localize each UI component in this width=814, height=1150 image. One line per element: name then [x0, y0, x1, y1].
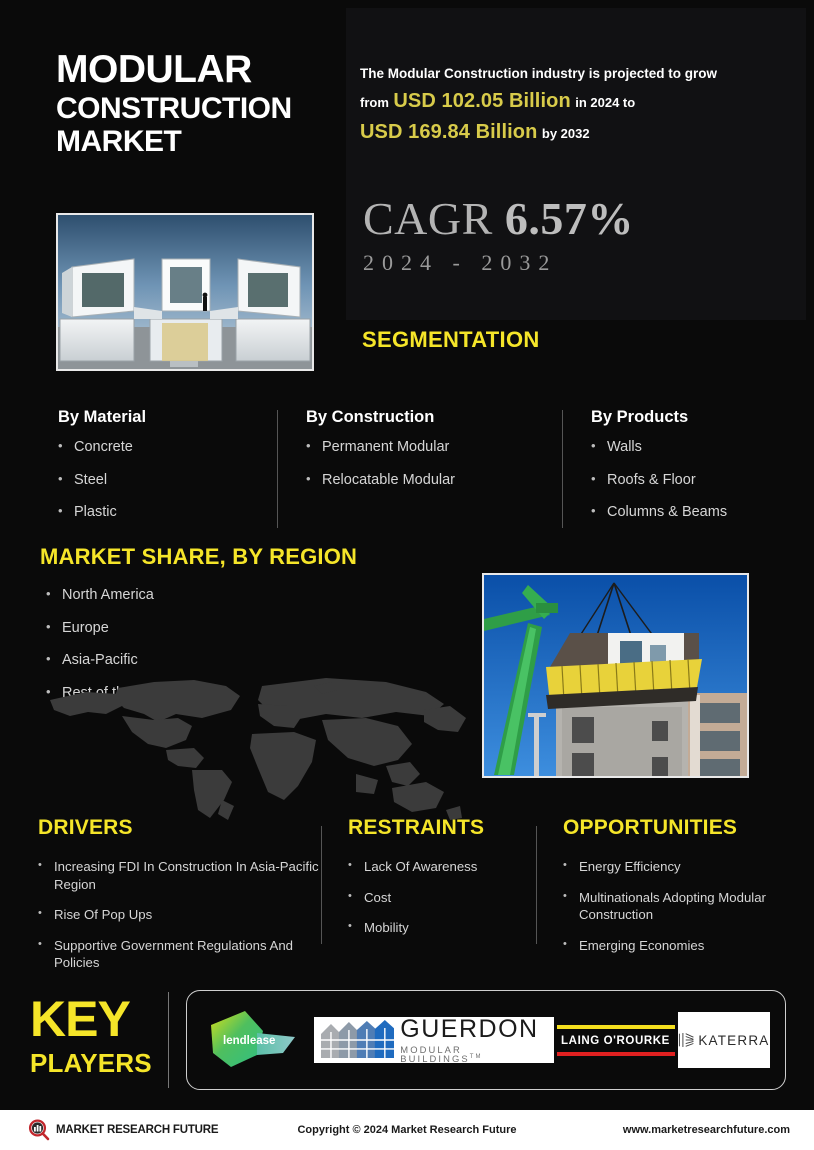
- modular-building-illustration: [58, 215, 312, 369]
- title-line-2: CONSTRUCTION: [56, 92, 346, 126]
- column-divider: [562, 410, 563, 528]
- logo-lendlease[interactable]: lendlease lendlease: [203, 1007, 311, 1073]
- segmentation-title: SEGMENTATION: [362, 327, 540, 353]
- footer-url[interactable]: www.marketresearchfuture.com: [623, 1124, 790, 1136]
- laing-red-bar: [557, 1052, 675, 1056]
- infographic-page: MODULAR CONSTRUCTION MARKET: [0, 0, 814, 1150]
- cagr-block: CAGR 6.57% 2024 - 2032: [363, 196, 634, 276]
- value-2032: USD 169.84 Billion: [360, 121, 537, 143]
- laing-orourke-label: LAING O'ROURKE: [557, 1029, 675, 1052]
- list-item: Increasing FDI In Construction In Asia-P…: [26, 858, 336, 893]
- list-item: Concrete: [46, 438, 282, 458]
- segmentation-row: By Material Concrete Steel Plastic By Co…: [46, 408, 776, 536]
- guerdon-houses-icon: [319, 1020, 395, 1060]
- list-item: Walls: [579, 438, 764, 458]
- segmentation-heading: By Construction: [294, 408, 567, 427]
- list-item: Steel: [46, 471, 282, 491]
- analysis-heading: OPPORTUNITIES: [551, 816, 796, 840]
- intro-from: from: [360, 95, 389, 110]
- segmentation-heading: By Products: [579, 408, 764, 427]
- list-item: Plastic: [46, 503, 282, 523]
- key-players-divider: [168, 992, 169, 1088]
- list-item: Roofs & Floor: [579, 471, 764, 491]
- intro-line-1: The Modular Construction industry is pro…: [360, 66, 717, 81]
- katerra-label: KATERRA: [698, 1033, 769, 1048]
- key-players-label: KEY PLAYERS: [30, 996, 160, 1079]
- cagr-label: CAGR: [363, 193, 493, 244]
- list-item: North America: [34, 586, 314, 606]
- katerra-mark-icon: [678, 1029, 695, 1051]
- modular-building-photo: [56, 213, 314, 371]
- value-2024: USD 102.05 Billion: [393, 90, 570, 112]
- key-players-logo-box: lendlease lendlease GUERDON MODULAR BUIL…: [186, 990, 786, 1090]
- analysis-column-drivers: DRIVERS Increasing FDI In Construction I…: [26, 816, 336, 985]
- world-map: [26, 670, 481, 835]
- column-divider: [536, 826, 537, 944]
- logo-guerdon[interactable]: GUERDON MODULAR BUILDINGSTM: [314, 1017, 554, 1063]
- list-item: Europe: [34, 619, 314, 639]
- logo-laing-orourke[interactable]: LAING O'ROURKE: [557, 1025, 675, 1056]
- svg-text:lendlease: lendlease: [223, 1035, 275, 1047]
- analysis-heading: DRIVERS: [26, 816, 336, 840]
- market-share-title: MARKET SHARE, BY REGION: [40, 544, 357, 570]
- analysis-heading: RESTRAINTS: [336, 816, 551, 840]
- analysis-row: DRIVERS Increasing FDI In Construction I…: [26, 816, 796, 985]
- cagr-line: CAGR 6.57%: [363, 196, 634, 242]
- column-divider: [277, 410, 278, 528]
- guerdon-tm: TM: [470, 1054, 483, 1060]
- segmentation-column-construction: By Construction Permanent Modular Reloca…: [294, 408, 579, 536]
- lendlease-logo-icon: lendlease: [203, 1007, 311, 1073]
- guerdon-sublabel: MODULAR BUILDINGS: [400, 1044, 469, 1065]
- column-divider: [321, 826, 322, 944]
- guerdon-label: GUERDON: [400, 1017, 548, 1042]
- cagr-years: 2024 - 2032: [363, 250, 634, 276]
- title-line-3: MARKET: [56, 125, 346, 159]
- list-item: Energy Efficiency: [551, 858, 796, 876]
- analysis-column-opportunities: OPPORTUNITIES Energy Efficiency Multinat…: [551, 816, 796, 985]
- list-item: Columns & Beams: [579, 503, 764, 523]
- list-item: Multinationals Adopting Modular Construc…: [551, 889, 796, 924]
- list-item: Emerging Economies: [551, 937, 796, 955]
- segmentation-list: Permanent Modular Relocatable Modular: [294, 438, 567, 490]
- footer: MARKET RESEARCH FUTURE Copyright © 2024 …: [0, 1110, 814, 1150]
- intro-end: by 2032: [542, 126, 590, 141]
- list-item: Mobility: [336, 919, 551, 937]
- analysis-column-restraints: RESTRAINTS Lack Of Awareness Cost Mobili…: [336, 816, 551, 985]
- segmentation-list: Concrete Steel Plastic: [46, 438, 282, 523]
- analysis-list: Increasing FDI In Construction In Asia-P…: [26, 858, 336, 972]
- segmentation-column-products: By Products Walls Roofs & Floor Columns …: [579, 408, 776, 536]
- segmentation-heading: By Material: [46, 408, 282, 427]
- analysis-list: Energy Efficiency Multinationals Adoptin…: [551, 858, 796, 954]
- segmentation-column-material: By Material Concrete Steel Plastic: [46, 408, 294, 536]
- key-players-line-2: PLAYERS: [30, 1048, 160, 1079]
- crane-illustration: [484, 575, 747, 776]
- key-players-line-1: KEY: [30, 996, 160, 1044]
- page-title: MODULAR CONSTRUCTION MARKET: [56, 48, 346, 159]
- crane-lifting-module-photo: [482, 573, 749, 778]
- analysis-list: Lack Of Awareness Cost Mobility: [336, 858, 551, 937]
- title-line-1: MODULAR: [56, 48, 346, 92]
- list-item: Relocatable Modular: [294, 471, 567, 491]
- cagr-value: 6.57%: [505, 193, 634, 244]
- market-value-statement: The Modular Construction industry is pro…: [360, 62, 790, 147]
- intro-mid: in 2024 to: [575, 95, 635, 110]
- list-item: Lack Of Awareness: [336, 858, 551, 876]
- list-item: Asia-Pacific: [34, 651, 314, 671]
- list-item: Permanent Modular: [294, 438, 567, 458]
- list-item: Rise Of Pop Ups: [26, 906, 336, 924]
- list-item: Cost: [336, 889, 551, 907]
- segmentation-list: Walls Roofs & Floor Columns & Beams: [579, 438, 764, 523]
- list-item: Supportive Government Regulations And Po…: [26, 937, 336, 972]
- logo-katerra[interactable]: KATERRA: [678, 1012, 770, 1068]
